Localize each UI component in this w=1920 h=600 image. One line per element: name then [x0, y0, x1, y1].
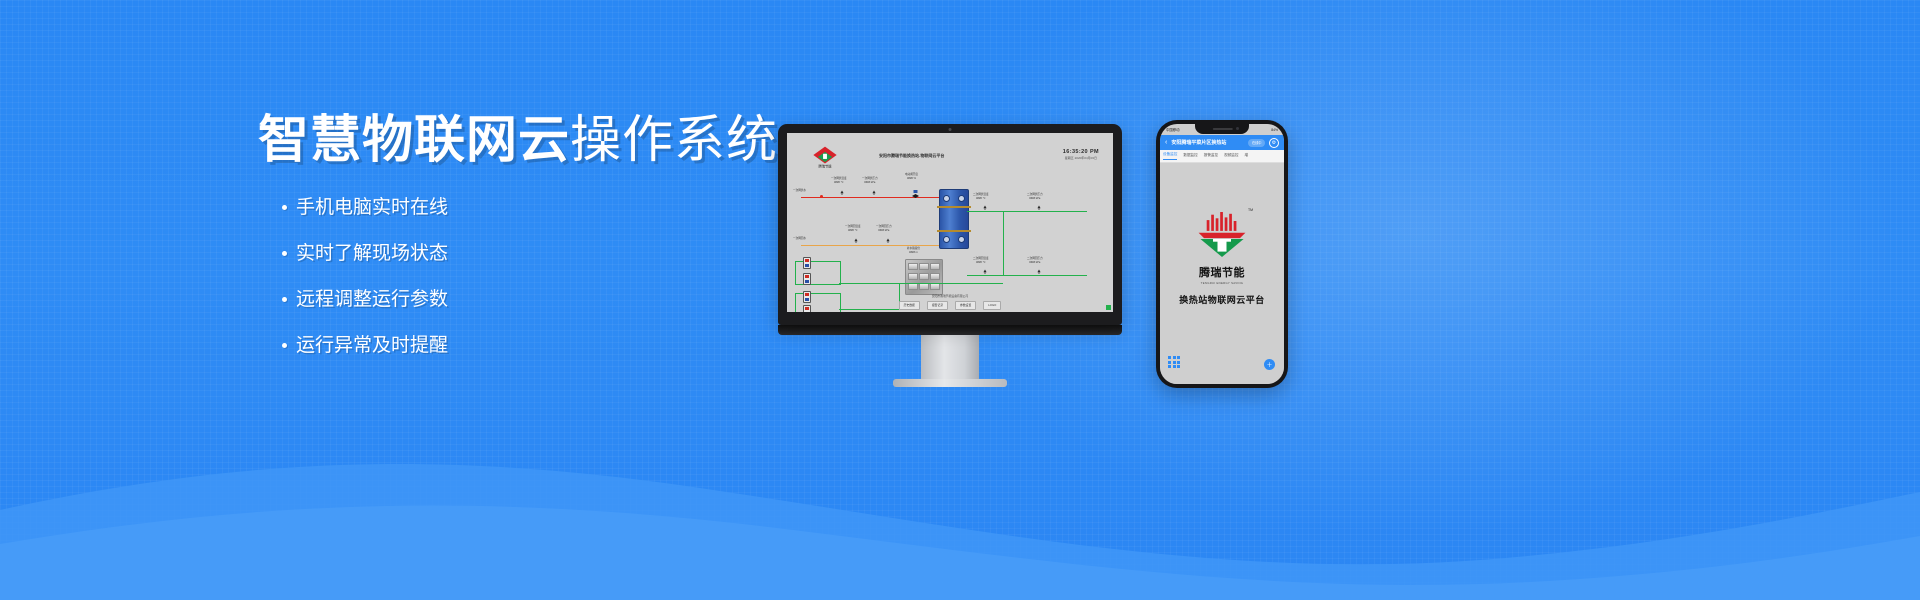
- electric-valve-icon: [911, 190, 920, 200]
- feature-label: 远程调整运行参数: [296, 290, 448, 309]
- scada-button-bar: 历史数据 报警记录 参数设置 LOGO: [787, 301, 1113, 310]
- tag-primary-supply-temp: 一次网供温度#### ℃: [831, 177, 847, 184]
- tab-video-monitor[interactable]: 视频监控: [1224, 153, 1238, 160]
- tag-primary-supply: 一次网供水: [793, 189, 806, 193]
- primary-supply-pipe: [801, 197, 951, 198]
- tag-secondary-return-temp: 二次网回温度#### ℃: [973, 257, 989, 264]
- bullet-dot-icon: [282, 205, 287, 210]
- tag-primary-return-temp: 一次网回温度#### ℃: [845, 225, 861, 232]
- primary-return-pipe: [801, 245, 951, 246]
- sensor-icon: [983, 205, 987, 210]
- tag-secondary-supply-press: 二次网供压力#### kPa: [1027, 193, 1043, 200]
- parameter-setting-button[interactable]: 参数设置: [955, 301, 976, 310]
- list-item: 手机电脑实时在线: [258, 198, 778, 217]
- pump-unit: [803, 257, 811, 269]
- brand-name: 腾瑞节能: [1199, 264, 1245, 280]
- sensor-icon: [854, 238, 858, 243]
- app-navigation-bar: ‹ 安阳腾瑞平菜片区换热站 在线中 ⚙: [1160, 135, 1284, 150]
- sensor-icon: [886, 238, 890, 243]
- monitor-stand-neck: [921, 335, 979, 379]
- app-title: 安阳腾瑞平菜片区换热站: [1171, 139, 1244, 146]
- tengrui-logo-icon: [1195, 211, 1249, 258]
- phone-screen[interactable]: 中国移动 84% ‹ 安阳腾瑞平菜片区换热站 在线中 ⚙ 设备监控 数据监控 报…: [1160, 124, 1284, 384]
- secondary-supply-pipe: [967, 211, 1087, 212]
- sensor-icon: [840, 190, 844, 195]
- status-indicator: [1106, 305, 1111, 310]
- tab-device-monitor[interactable]: 设备监控: [1163, 152, 1177, 160]
- cabinet-row: [908, 263, 940, 270]
- grid-icon[interactable]: [1168, 356, 1180, 368]
- bullet-dot-icon: [282, 343, 287, 348]
- tag-secondary-supply-temp: 二次网供温度#### ℃: [973, 193, 989, 200]
- history-data-button[interactable]: 历史数据: [899, 301, 920, 310]
- hx-port: [943, 195, 950, 202]
- svg-text:腾瑞节能: 腾瑞节能: [819, 163, 833, 168]
- brand-name-english: TENGRUI ENERGY SAVING: [1201, 281, 1244, 285]
- feature-label: 运行异常及时提醒: [296, 336, 448, 355]
- bottom-wave-decoration: [0, 440, 1920, 600]
- page-title: 智慧物联网云操作系统: [258, 112, 778, 168]
- hx-frame-bar: [937, 230, 971, 232]
- settings-icon[interactable]: ⚙: [1269, 138, 1279, 148]
- logo-button[interactable]: LOGO: [983, 301, 1001, 310]
- front-camera-icon: [1236, 127, 1239, 130]
- feature-label: 实时了解现场状态: [296, 244, 448, 263]
- control-cabinet: [905, 259, 943, 295]
- pump-unit: [803, 273, 811, 285]
- desktop-monitor: 腾瑞节能 安阳市腾瑞节能换热站-物联网云平台 16:35:20 PM 星期五 2…: [778, 124, 1122, 387]
- page-title-light: 操作系统: [570, 111, 778, 168]
- hx-port: [943, 236, 950, 243]
- tab-data-monitor[interactable]: 数据监控: [1183, 153, 1197, 160]
- phone-notch: [1195, 124, 1249, 134]
- brand-logo-block: TM: [1195, 211, 1249, 263]
- sensor-icon: [872, 190, 876, 195]
- cabinet-cell: [930, 263, 940, 270]
- tag-valve-opening: 电动阀开度#### %: [905, 173, 918, 180]
- webcam-icon: [949, 128, 952, 131]
- pump-group-box: [795, 261, 841, 285]
- scada-title: 安阳市腾瑞节能换热站-物联网云平台: [879, 153, 944, 159]
- phone-body: 中国移动 84% ‹ 安阳腾瑞平菜片区换热站 在线中 ⚙ 设备监控 数据监控 报…: [1156, 120, 1288, 388]
- alarm-record-button[interactable]: 报警记录: [927, 301, 948, 310]
- cabinet-cell: [930, 273, 940, 280]
- online-status-badge: 在线中: [1248, 139, 1265, 147]
- secondary-return-pipe: [967, 275, 1087, 276]
- hx-port: [958, 236, 965, 243]
- list-item: 实时了解现场状态: [258, 244, 778, 263]
- tab-more[interactable]: 增: [1245, 153, 1249, 160]
- sensor-icon: [1037, 205, 1041, 210]
- clock-date: 星期五 2020年04月03日: [1063, 156, 1099, 160]
- carrier-label: 中国移动: [1166, 127, 1180, 132]
- list-item: 远程调整运行参数: [258, 290, 778, 309]
- primary-supply-marker: [820, 195, 823, 198]
- platform-name: 换热站物联网云平台: [1179, 293, 1265, 306]
- tag-primary-supply-press: 一次网供压力#### kPa: [862, 177, 878, 184]
- cabinet-cell: [908, 273, 918, 280]
- feature-list: 手机电脑实时在线 实时了解现场状态 远程调整运行参数 运行异常及时提醒: [258, 198, 778, 355]
- tag-water-tank-level: 补水箱液位#### m: [907, 247, 920, 254]
- monitor-chin: [778, 325, 1122, 335]
- cabinet-cell: [919, 263, 929, 270]
- scada-clock: 16:35:20 PM 星期五 2020年04月03日: [1063, 149, 1099, 160]
- scada-footer: 安阳市腾瑞节能设备有限公司: [787, 294, 1113, 298]
- trademark-label: TM: [1248, 208, 1253, 212]
- secondary-riser-pipe: [1003, 211, 1004, 275]
- hx-port: [958, 195, 965, 202]
- speaker-icon: [1213, 128, 1233, 130]
- chevron-left-icon[interactable]: ‹: [1165, 139, 1167, 146]
- page-title-strong: 智慧物联网云: [258, 111, 570, 168]
- app-content-area: TM 腾瑞节能 TE: [1160, 163, 1284, 384]
- mobile-phone: 中国移动 84% ‹ 安阳腾瑞平菜片区换热站 在线中 ⚙ 设备监控 数据监控 报…: [1156, 120, 1288, 388]
- plus-icon[interactable]: ＋: [1264, 359, 1275, 370]
- tag-secondary-return-press: 二次网回压力#### kPa: [1027, 257, 1043, 264]
- pump-outlet-pipe: [839, 283, 1003, 284]
- tab-alarm-monitor[interactable]: 报警监控: [1204, 153, 1218, 160]
- scada-logo-icon: 腾瑞节能: [812, 146, 838, 168]
- clock-time: 16:35:20 PM: [1063, 149, 1099, 155]
- tag-primary-return-press: 一次网回压力#### kPa: [876, 225, 892, 232]
- sensor-icon: [983, 269, 987, 274]
- tag-primary-return: 一次网回水: [793, 237, 806, 241]
- plate-heat-exchanger: [939, 189, 969, 249]
- monitor-bezel: 腾瑞节能 安阳市腾瑞节能换热站-物联网云平台 16:35:20 PM 星期五 2…: [778, 124, 1122, 325]
- bullet-dot-icon: [282, 297, 287, 302]
- marketing-copy: 智慧物联网云操作系统 手机电脑实时在线 实时了解现场状态 远程调整运行参数 运行…: [258, 112, 778, 382]
- bullet-dot-icon: [282, 251, 287, 256]
- sensor-icon: [1037, 269, 1041, 274]
- cabinet-cell: [919, 273, 929, 280]
- monitor-stand-foot: [893, 379, 1007, 387]
- app-tab-bar: 设备监控 数据监控 报警监控 视频监控 增: [1160, 150, 1284, 163]
- cabinet-row: [908, 273, 940, 280]
- monitor-screen[interactable]: 腾瑞节能 安阳市腾瑞节能换热站-物联网云平台 16:35:20 PM 星期五 2…: [787, 133, 1113, 312]
- hx-frame-bar: [937, 206, 971, 208]
- list-item: 运行异常及时提醒: [258, 336, 778, 355]
- battery-label: 84%: [1271, 128, 1278, 132]
- cabinet-cell: [908, 263, 918, 270]
- feature-label: 手机电脑实时在线: [296, 198, 448, 217]
